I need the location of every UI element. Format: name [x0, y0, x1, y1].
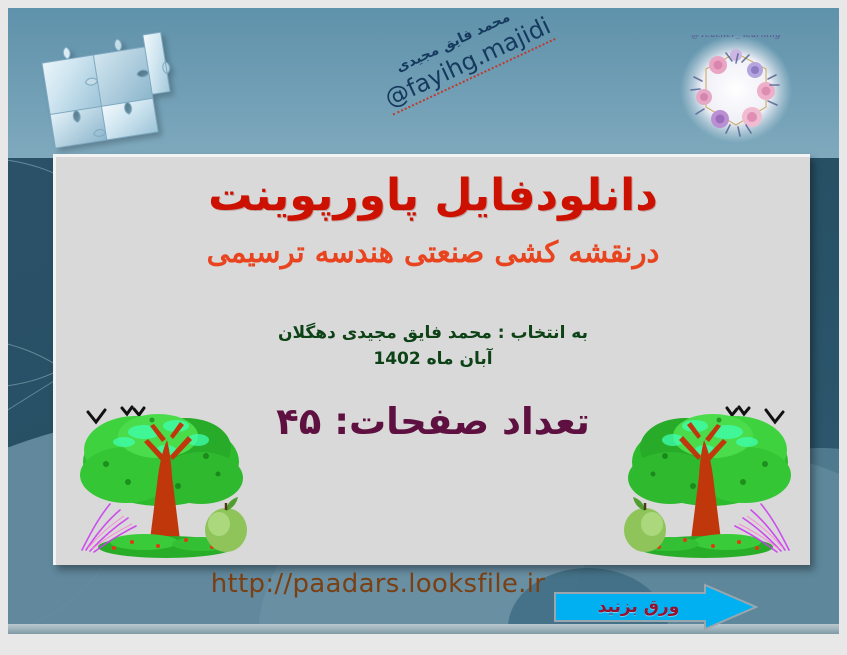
apple-tree-icon	[595, 390, 805, 565]
slide-area: محمد فایق مجیدی @fayihg.majidi	[8, 8, 839, 634]
content-panel: دانلودفایل پاورپوینت درنقشه کشی صنعتی هن…	[53, 154, 810, 565]
logo-text: @Teacher_ learning	[691, 35, 781, 40]
green-apple-icon	[205, 497, 247, 552]
puzzle-pieces-icon	[12, 8, 192, 166]
byline-date: آبان ماه 1402	[56, 346, 810, 372]
slide-canvas: محمد فایق مجیدی @fayihg.majidi	[0, 0, 847, 655]
next-slide-button[interactable]: ورق بزنید	[553, 583, 758, 631]
page-subtitle: درنقشه کشی صنعتی هندسه ترسیمی	[56, 237, 810, 269]
right-arrow-icon[interactable]	[553, 583, 758, 631]
page-title: دانلودفایل پاورپوینت	[56, 173, 810, 219]
byline: به انتخاب : محمد فایق مجیدی دهگلان آبان …	[56, 320, 810, 373]
green-apple-icon	[624, 497, 666, 552]
byline-author: به انتخاب : محمد فایق مجیدی دهگلان	[278, 323, 588, 343]
site-url-link[interactable]: http://paadars.looksfile.ir	[158, 569, 598, 599]
teacher-learning-logo: @Teacher_ learning	[680, 35, 792, 143]
apple-tree-icon	[66, 390, 276, 565]
floral-wreath-icon: @Teacher_ learning	[680, 35, 792, 143]
